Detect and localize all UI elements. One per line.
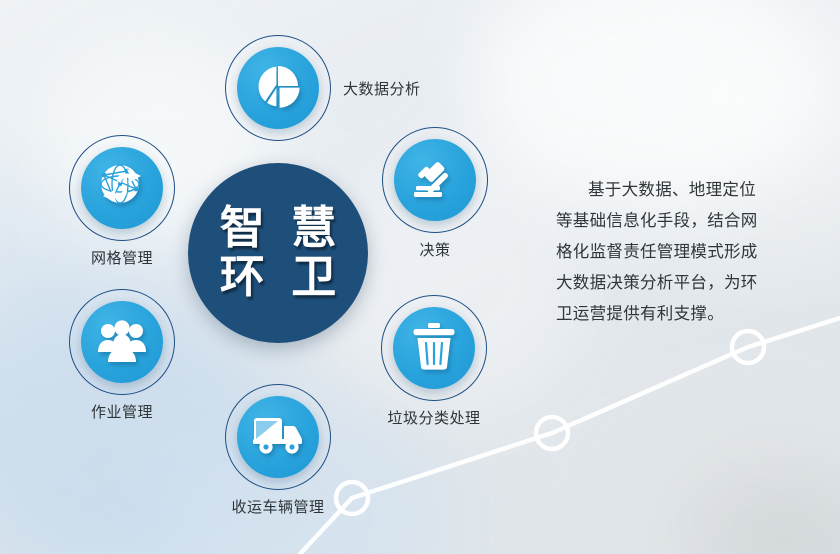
- node-disc: [393, 307, 475, 389]
- smart-sanitation-infographic: 智 慧 环 卫 大数据分析: [0, 0, 840, 554]
- node-label-big-data-analysis: 大数据分析: [343, 78, 421, 99]
- truck-icon: [252, 415, 304, 460]
- node-operation-management[interactable]: 作业管理: [69, 289, 175, 395]
- pie-chart-icon: [254, 62, 302, 115]
- hub-title-line-1: 智 慧: [213, 204, 344, 253]
- trash-bin-icon: [412, 322, 456, 375]
- node-collection-vehicle-management[interactable]: 收运车辆管理: [225, 384, 331, 490]
- node-label-garbage-sorting: 垃圾分类处理: [387, 407, 480, 428]
- description-line: 等基础信息化手段，结合网: [556, 206, 802, 237]
- node-label-operation-management: 作业管理: [91, 401, 153, 422]
- node-grid-management[interactable]: 网格管理: [69, 135, 175, 241]
- node-disc: [394, 139, 476, 221]
- description-line: 基于大数据、地理定位: [556, 175, 802, 206]
- network-globe-icon: [97, 161, 147, 216]
- node-label-collection-vehicle-management: 收运车辆管理: [231, 496, 324, 517]
- node-disc: [237, 396, 319, 478]
- node-disc: [81, 301, 163, 383]
- node-garbage-sorting[interactable]: 垃圾分类处理: [381, 295, 487, 401]
- node-disc: [237, 47, 319, 129]
- gavel-icon: [411, 154, 459, 207]
- hub-title-line-2: 环 卫: [213, 253, 344, 302]
- description-line: 大数据决策分析平台，为环: [556, 268, 802, 299]
- people-group-icon: [97, 317, 147, 368]
- description-text: 基于大数据、地理定位 等基础信息化手段，结合网 格化监督责任管理模式形成 大数据…: [556, 175, 802, 330]
- node-disc: [81, 147, 163, 229]
- node-label-decision-making: 决策: [419, 239, 450, 260]
- description-line: 格化监督责任管理模式形成: [556, 237, 802, 268]
- node-label-grid-management: 网格管理: [91, 247, 153, 268]
- description-line: 卫运营提供有利支撑。: [556, 299, 802, 330]
- node-decision-making[interactable]: 决策: [382, 127, 488, 233]
- node-big-data-analysis[interactable]: 大数据分析: [225, 35, 331, 141]
- smart-sanitation-hub[interactable]: 智 慧 环 卫: [188, 163, 368, 343]
